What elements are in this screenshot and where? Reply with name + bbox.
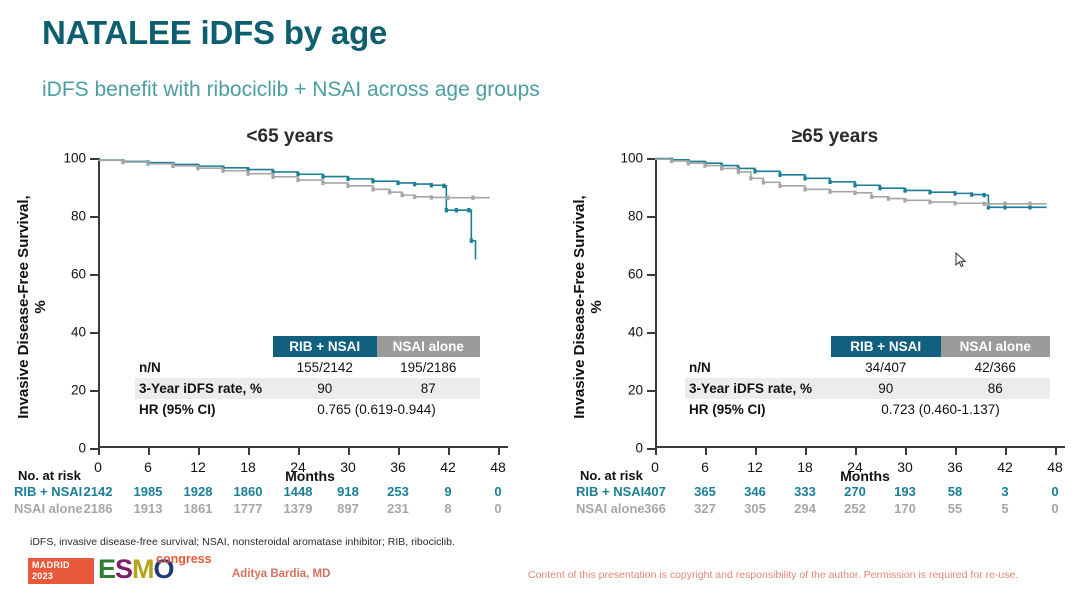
risk-value: 333 [794,484,816,499]
y-tick-label: 100 [620,151,643,166]
risk-row-rib-right: RIB + NSAI 4073653463332701935830 [540,484,1080,501]
censor-mark [455,208,458,212]
stats-table-over-65: RIB + NSAI NSAI alone n/N 34/407 42/366 … [685,336,1050,420]
censor-mark [687,161,690,165]
censor-mark [828,180,831,184]
risk-value: 252 [844,501,866,516]
censor-mark [396,181,399,185]
censor-mark [778,173,781,177]
censor-mark [720,166,723,170]
censor-mark [445,208,448,212]
y-tick-label: 40 [628,325,643,340]
chart-title-over-65: ≥65 years [540,126,1080,148]
x-tick [448,448,450,455]
censor-mark [146,162,149,166]
x-axis-label-left: Months [0,468,540,484]
censor-mark [1028,202,1031,206]
stats-label-rate-right: 3-Year iDFS rate, % [685,378,831,399]
risk-value: 365 [694,484,716,499]
risk-value: 918 [337,484,359,499]
risk-row-rib-left: RIB + NSAI 2142198519281860144891825390 [0,484,540,501]
censor-mark [928,190,931,194]
x-tick [655,448,657,455]
y-tick [647,390,655,392]
censor-mark [121,160,124,164]
x-tick [298,448,300,455]
risk-value: 0 [1051,484,1058,499]
risk-value: 58 [948,484,962,499]
y-tick-label: 80 [628,209,643,224]
logo-event: congress [156,552,212,566]
risk-value: 3 [1001,484,1008,499]
risk-value: 9 [444,484,451,499]
stats-hr-right: 0.723 (0.460-1.137) [831,399,1050,420]
censor-mark [430,183,433,187]
risk-value: 294 [794,501,816,516]
esmo-logo: MADRID 2023 ESMO congress [28,552,203,586]
chart-panel-under-65: <65 years Invasive Disease-Free Survival… [0,118,540,538]
stats-label-rate-left: 3-Year iDFS rate, % [135,378,273,399]
x-tick [1055,448,1057,455]
table-row: 3-Year iDFS rate, % 90 87 [135,378,480,399]
censor-mark [221,169,224,173]
stats-header-rib-left: RIB + NSAI [273,336,377,357]
x-tick [1005,448,1007,455]
x-tick [148,448,150,455]
censor-mark [953,201,956,205]
risk-value: 1928 [184,484,213,499]
censor-mark [703,163,706,167]
y-tick-label: 40 [71,325,86,340]
censor-mark [853,183,856,187]
censor-mark [737,170,740,174]
censor-mark [346,184,349,188]
x-tick [705,448,707,455]
y-tick [90,448,98,450]
x-tick [348,448,350,455]
stats-n-nsai-right: 42/366 [941,357,1051,378]
risk-value: 253 [387,484,409,499]
risk-value: 1861 [184,501,213,516]
chart-panel-over-65: ≥65 years Invasive Disease-Free Survival… [540,118,1080,538]
risk-value: 231 [387,501,409,516]
stats-label-hr-right: HR (95% CI) [685,399,831,420]
risk-value: 0 [494,484,501,499]
censor-mark [321,181,324,185]
censor-mark [870,195,873,199]
censor-mark [878,186,881,190]
risk-row-nsai-right: NSAI alone 3663273052942521705550 [540,501,1080,518]
censor-mark [388,190,391,194]
risk-value: 897 [337,501,359,516]
risk-value: 193 [894,484,916,499]
page-subtitle: iDFS benefit with ribociclib + NSAI acro… [42,78,540,102]
censor-mark [753,169,756,173]
risk-value: 55 [948,501,962,516]
y-tick [647,216,655,218]
y-tick [90,390,98,392]
footnote: iDFS, invasive disease-free survival; NS… [30,536,455,548]
y-tick-label: 60 [71,267,86,282]
censor-mark [887,196,890,200]
censor-mark [903,188,906,192]
risk-value: 346 [744,484,766,499]
censor-mark [471,196,474,200]
censor-mark [296,178,299,182]
risk-value: 366 [644,501,666,516]
risk-row-label-rib-left: RIB + NSAI [14,484,82,499]
copyright-notice: Content of this presentation is copyrigh… [528,569,1018,581]
y-tick [90,332,98,334]
censor-mark [196,166,199,170]
x-tick [955,448,957,455]
logo-year: 2023 [32,571,53,581]
risk-value: 1777 [234,501,263,516]
y-tick-label: 20 [628,383,643,398]
y-tick [647,158,655,160]
stats-n-nsai-left: 195/2186 [377,357,481,378]
risk-row-nsai-left: NSAI alone 2186191318611777137989723180 [0,501,540,518]
table-row: 3-Year iDFS rate, % 90 86 [685,378,1050,399]
risk-value: 2186 [84,501,113,516]
x-axis-label-right: Months [540,468,1080,484]
censor-mark [803,187,806,191]
stats-header-nsai-right: NSAI alone [941,336,1051,357]
censor-mark [853,191,856,195]
censor-mark [401,193,404,197]
y-tick-label: 80 [71,209,86,224]
risk-value: 0 [1051,501,1058,516]
y-tick [647,274,655,276]
table-row: HR (95% CI) 0.723 (0.460-1.137) [685,399,1050,420]
stats-table-under-65: RIB + NSAI NSAI alone n/N 155/2142 195/2… [135,336,480,420]
censor-mark [442,184,445,188]
x-tick [905,448,907,455]
risk-value: 8 [444,501,451,516]
y-tick [90,274,98,276]
x-tick [198,448,200,455]
censor-mark [246,171,249,175]
stats-label-n-left: n/N [135,357,273,378]
stats-rate-nsai-left: 87 [377,378,481,399]
risk-value: 1860 [234,484,263,499]
censor-mark [903,198,906,202]
risk-value: 0 [494,501,501,516]
y-tick [90,158,98,160]
y-tick-label: 60 [628,267,643,282]
page-title: NATALEE iDFS by age [42,14,387,52]
y-tick-label: 20 [71,383,86,398]
censor-mark [321,174,324,178]
x-tick [805,448,807,455]
km-curve [98,160,490,197]
censor-mark [371,187,374,191]
stats-hr-left: 0.765 (0.619-0.944) [273,399,480,420]
risk-value: 1913 [134,501,163,516]
table-row: n/N 155/2142 195/2186 [135,357,480,378]
y-tick-label: 100 [63,151,86,166]
censor-mark [413,182,416,186]
risk-value: 1448 [284,484,313,499]
censor-mark [928,200,931,204]
table-row: HR (95% CI) 0.765 (0.619-0.944) [135,399,480,420]
censor-mark [983,202,986,206]
logo-city: MADRID [32,560,70,570]
y-axis-label-right: Invasive Disease-Free Survival, % [571,187,605,427]
slide: NATALEE iDFS by age iDFS benefit with ri… [0,0,1080,596]
risk-value: 327 [694,501,716,516]
censor-mark [953,191,956,195]
logo-city-year: MADRID 2023 [28,558,94,584]
stats-rate-nsai-right: 86 [941,378,1051,399]
risk-row-label-nsai-right: NSAI alone [576,501,645,516]
stats-header-rib-right: RIB + NSAI [831,336,941,357]
y-tick [90,216,98,218]
censor-mark [803,176,806,180]
table-row: n/N 34/407 42/366 [685,357,1050,378]
stats-n-rib-right: 34/407 [831,357,941,378]
y-axis-label-left: Invasive Disease-Free Survival, % [15,187,49,427]
risk-row-label-nsai-left: NSAI alone [14,501,83,516]
stats-rate-rib-left: 90 [273,378,377,399]
censor-mark [970,192,973,196]
x-tick [855,448,857,455]
censor-mark [296,172,299,176]
risk-value: 170 [894,501,916,516]
risk-value: 305 [744,501,766,516]
y-tick [647,448,655,450]
censor-mark [828,189,831,193]
censor-mark [670,159,673,163]
risk-value: 1379 [284,501,313,516]
presenter-name: Aditya Bardia, MD [232,568,330,580]
x-tick [398,448,400,455]
censor-mark [749,176,752,180]
censor-mark [446,196,449,200]
stats-label-n-right: n/N [685,357,831,378]
x-tick [98,448,100,455]
censor-mark [778,184,781,188]
x-tick [755,448,757,455]
risk-value: 1985 [134,484,163,499]
risk-value: 5 [1001,501,1008,516]
chart-title-under-65: <65 years [0,126,540,148]
x-tick [498,448,500,455]
mouse-cursor-icon [955,252,967,268]
y-tick-label: 0 [635,441,643,456]
x-tick [248,448,250,455]
censor-mark [983,193,986,197]
censor-mark [467,208,470,212]
censor-mark [413,195,416,199]
censor-mark [987,202,990,206]
y-tick-label: 0 [78,441,86,456]
censor-mark [271,175,274,179]
stats-label-hr-left: HR (95% CI) [135,399,273,420]
stats-rate-rib-right: 90 [831,378,941,399]
censor-mark [371,179,374,183]
censor-mark [430,195,433,199]
censor-mark [762,180,765,184]
censor-mark [171,164,174,168]
censor-mark [470,238,473,242]
risk-value: 270 [844,484,866,499]
stats-n-rib-left: 155/2142 [273,357,377,378]
risk-value: 407 [644,484,666,499]
y-tick [647,332,655,334]
risk-row-label-rib-right: RIB + NSAI [576,484,644,499]
censor-mark [346,177,349,181]
risk-value: 2142 [84,484,113,499]
km-curve [98,160,476,259]
censor-mark [1003,202,1006,206]
stats-header-nsai-left: NSAI alone [377,336,481,357]
